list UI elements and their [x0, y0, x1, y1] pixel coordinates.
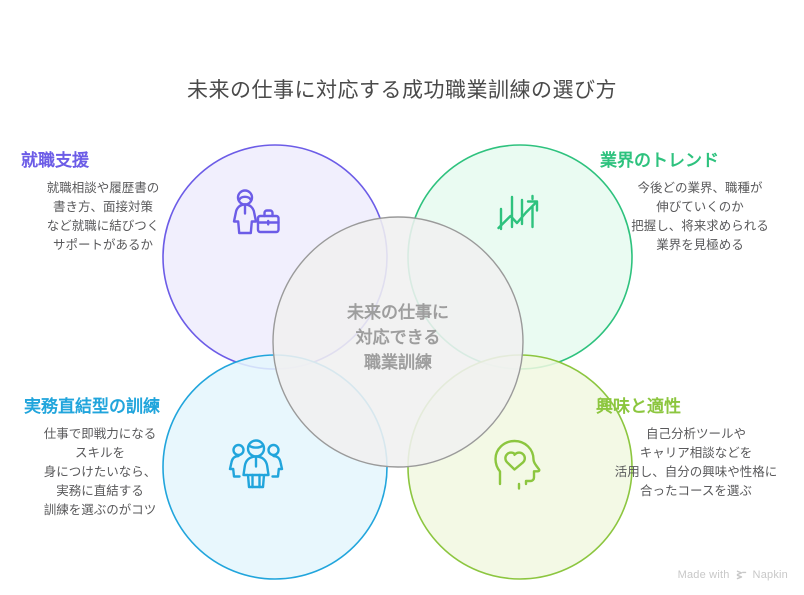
text-block-practical-training: 実務直結型の訓練 仕事で即戦力になる スキルを 身につけたいなら、 実務に直結す…: [0, 396, 200, 520]
heading-job-support: 就職支援: [3, 150, 203, 172]
growth-chart-icon: [488, 183, 552, 247]
heading-interest-aptitude: 興味と適性: [596, 396, 796, 418]
center-line-2: 対応できる: [298, 325, 498, 350]
body-line: サポートがあるか: [3, 236, 203, 255]
napkin-watermark: Made with Napkin: [678, 568, 788, 581]
body-line: 今後どの業界、職種が: [600, 179, 800, 198]
head-heart-icon: [488, 433, 552, 497]
body-line: など就職に結びつく: [3, 217, 203, 236]
napkin-logo-icon: [735, 568, 748, 581]
body-line: 伸びていくのか: [600, 198, 800, 217]
body-line: 業界を見極める: [600, 236, 800, 255]
heading-industry-trends: 業界のトレンド: [600, 150, 800, 172]
body-line: 実務に直結する: [0, 482, 200, 501]
body-practical-training: 仕事で即戦力になる スキルを 身につけたいなら、 実務に直結する 訓練を選ぶのが…: [0, 425, 200, 520]
watermark-text: Made with: [678, 569, 730, 581]
body-line: 訓練を選ぶのがコツ: [0, 501, 200, 520]
body-line: スキルを: [0, 444, 200, 463]
text-block-job-support: 就職支援 就職相談や履歴書の 書き方、面接対策 など就職に結びつく サポートがあ…: [3, 150, 203, 255]
infographic-canvas: 未来の仕事に対応する成功職業訓練の選び方: [0, 0, 804, 595]
heading-practical-training: 実務直結型の訓練: [0, 396, 200, 418]
text-block-interest-aptitude: 興味と適性 自己分析ツールや キャリア相談などを 活用し、自分の興味や性格に 合…: [596, 396, 796, 501]
body-line: 身につけたいなら、: [0, 463, 200, 482]
body-interest-aptitude: 自己分析ツールや キャリア相談などを 活用し、自分の興味や性格に 合ったコースを…: [596, 425, 796, 501]
watermark-brand: Napkin: [753, 569, 788, 581]
person-briefcase-icon: [224, 183, 288, 247]
body-line: 活用し、自分の興味や性格に: [596, 463, 796, 482]
body-industry-trends: 今後どの業界、職種が 伸びていくのか 把握し、将来求められる 業界を見極める: [600, 179, 800, 255]
body-job-support: 就職相談や履歴書の 書き方、面接対策 など就職に結びつく サポートがあるか: [3, 179, 203, 255]
body-line: 仕事で即戦力になる: [0, 425, 200, 444]
body-line: 就職相談や履歴書の: [3, 179, 203, 198]
center-overlap-label: 未来の仕事に 対応できる 職業訓練: [298, 300, 498, 375]
center-line-3: 職業訓練: [298, 350, 498, 375]
people-group-icon: [224, 433, 288, 497]
body-line: 把握し、将来求められる: [600, 217, 800, 236]
center-line-1: 未来の仕事に: [298, 300, 498, 325]
body-line: キャリア相談などを: [596, 444, 796, 463]
text-block-industry-trends: 業界のトレンド 今後どの業界、職種が 伸びていくのか 把握し、将来求められる 業…: [600, 150, 800, 255]
body-line: 合ったコースを選ぶ: [596, 482, 796, 501]
body-line: 書き方、面接対策: [3, 198, 203, 217]
body-line: 自己分析ツールや: [596, 425, 796, 444]
